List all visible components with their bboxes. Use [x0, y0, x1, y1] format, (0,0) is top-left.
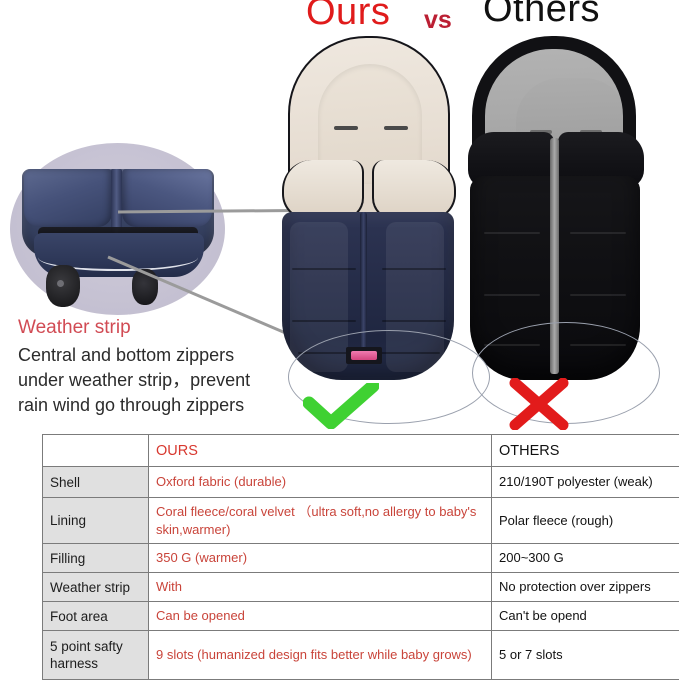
ours-quilt-seam-3: [292, 320, 356, 322]
others-value: 200~300 G: [492, 544, 679, 573]
caption-line-3: rain wind go through zippers: [18, 393, 290, 418]
table-row: 5 point safty harness 9 slots (humanized…: [43, 631, 679, 680]
comparison-table: OURS OTHERS Shell Oxford fabric (durable…: [42, 434, 679, 680]
feature-name: 5 point safty harness: [43, 631, 149, 680]
product-image-ours: [276, 36, 458, 380]
infographic-canvas: Ours vs Others Weather strip Central and…: [0, 0, 679, 679]
detail-central-zipper: [111, 169, 122, 233]
headline-group: Ours vs Others: [0, 0, 679, 40]
detail-stroller-wheel-right: [132, 269, 158, 305]
table-header-row: OURS OTHERS: [43, 435, 679, 467]
feature-name: Filling: [43, 544, 149, 573]
table-row: Weather strip With No protection over zi…: [43, 573, 679, 602]
headline-vs: vs: [424, 6, 452, 35]
ours-value: 350 G (warmer): [149, 544, 492, 573]
others-quilt-seam-1: [484, 232, 540, 234]
ours-quilt-seam-1: [292, 268, 356, 270]
headline-ours: Ours: [306, 0, 390, 34]
table-row: Lining Coral fleece/coral velvet （ultra …: [43, 498, 679, 544]
table-row: Foot area Can be opened Can't be opend: [43, 602, 679, 631]
ours-fleece-collar-right: [372, 160, 456, 220]
table-row: Shell Oxford fabric (durable) 210/190T p…: [43, 467, 679, 498]
others-quilt-seam-4: [570, 294, 626, 296]
caption-line-2: under weather strip，prevent: [18, 368, 290, 393]
others-quilt-seam-2: [570, 232, 626, 234]
ours-harness-slot-left: [334, 126, 358, 130]
ours-value: With: [149, 573, 492, 602]
ours-quilt-seam-2: [382, 268, 446, 270]
cross-mark-icon: [508, 378, 570, 430]
others-value: Polar fleece (rough): [492, 498, 679, 544]
others-value: 5 or 7 slots: [492, 631, 679, 680]
table-header-ours: OURS: [149, 435, 492, 467]
feature-name: Foot area: [43, 602, 149, 631]
detail-stroller-wheel-left: [46, 265, 80, 307]
ours-value: Oxford fabric (durable): [149, 467, 492, 498]
ours-quilt-seam-4: [382, 320, 446, 322]
detail-flap-right: [122, 169, 212, 227]
ours-value: Can be opened: [149, 602, 492, 631]
weather-strip-detail-inset: [10, 143, 225, 315]
ours-value: 9 slots (humanized design fits better wh…: [149, 631, 492, 680]
others-quilt-seam-3: [484, 294, 540, 296]
others-value: Can't be opend: [492, 602, 679, 631]
feature-name: Weather strip: [43, 573, 149, 602]
table-row: Filling 350 G (warmer) 200~300 G: [43, 544, 679, 573]
ours-value: Coral fleece/coral velvet （ultra soft,no…: [149, 498, 492, 544]
detail-flap-left: [24, 169, 112, 227]
table-header-others: OTHERS: [492, 435, 679, 467]
caption-line-1: Central and bottom zippers: [18, 343, 290, 368]
ours-fleece-collar-left: [282, 160, 364, 220]
check-mark-icon: [303, 383, 379, 429]
ours-harness-slot-right: [384, 126, 408, 130]
table-corner-cell: [43, 435, 149, 467]
feature-name: Shell: [43, 467, 149, 498]
caption-title: Weather strip: [18, 316, 290, 340]
headline-others: Others: [483, 0, 600, 31]
others-value: 210/190T polyester (weak): [492, 467, 679, 498]
feature-name: Lining: [43, 498, 149, 544]
weather-strip-caption: Weather strip Central and bottom zippers…: [18, 316, 290, 418]
others-value: No protection over zippers: [492, 573, 679, 602]
